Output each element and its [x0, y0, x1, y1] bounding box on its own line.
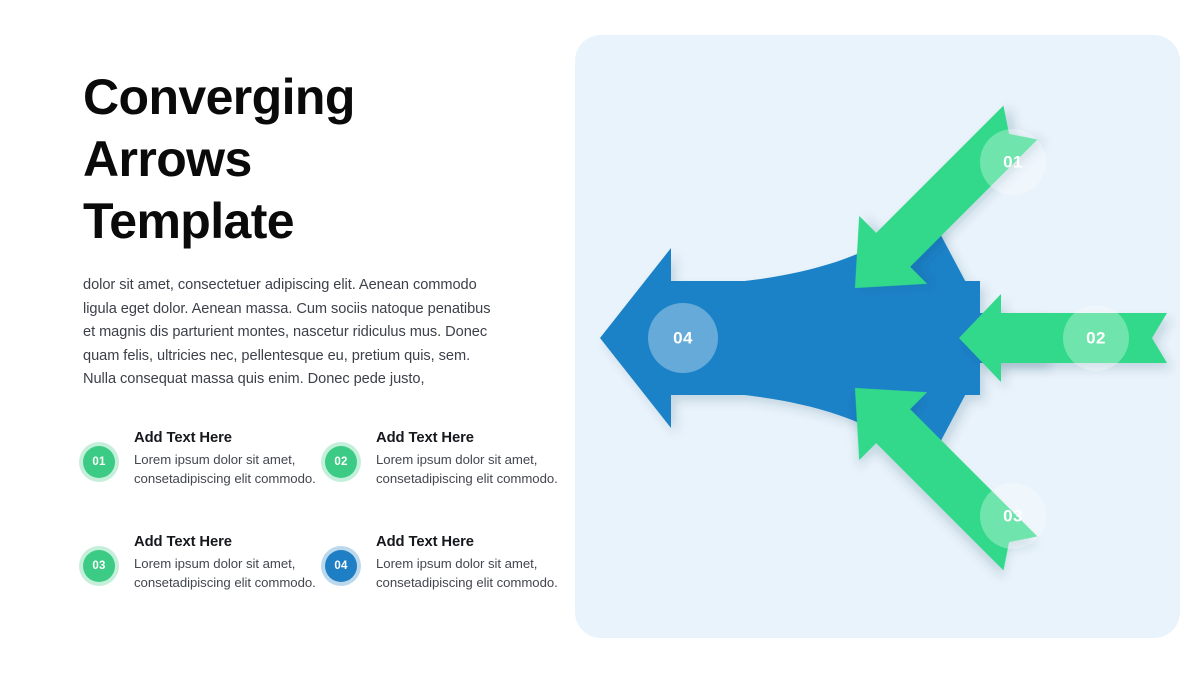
body-paragraph: dolor sit amet, consectetuer adipiscing …: [83, 274, 495, 392]
legend-description-02: Lorem ipsum dolor sit amet, consetadipis…: [376, 451, 558, 488]
legend-description-01: Lorem ipsum dolor sit amet, consetadipis…: [134, 451, 316, 488]
arrow-badge-01-label: 01: [1003, 153, 1023, 172]
legend-badge-01: 01: [83, 446, 115, 478]
arrow-badge-03-label: 03: [1003, 507, 1023, 526]
legend-description-04: Lorem ipsum dolor sit amet, consetadipis…: [376, 555, 558, 592]
legend-heading-04: Add Text Here: [376, 534, 558, 550]
arrow-badge-02-label: 02: [1086, 329, 1106, 348]
left-content-column: Converging Arrows Template dolor sit ame…: [83, 66, 553, 392]
arrow-badge-01: 01: [980, 129, 1046, 195]
legend-item-04[interactable]: 04 Add Text Here Lorem ipsum dolor sit a…: [325, 528, 567, 632]
arrow-badge-03: 03: [980, 483, 1046, 549]
legend-text-04: Add Text Here Lorem ipsum dolor sit amet…: [376, 528, 558, 592]
arrow-badge-04-label: 04: [673, 329, 693, 348]
legend-item-03[interactable]: 03 Add Text Here Lorem ipsum dolor sit a…: [83, 528, 325, 632]
legend-badge-04: 04: [325, 550, 357, 582]
arrow-badge-02: 02: [1063, 305, 1129, 371]
legend-heading-03: Add Text Here: [134, 534, 316, 550]
legend-badge-03: 03: [83, 550, 115, 582]
legend-text-01: Add Text Here Lorem ipsum dolor sit amet…: [134, 424, 316, 488]
legend-text-03: Add Text Here Lorem ipsum dolor sit amet…: [134, 528, 316, 592]
legend-description-03: Lorem ipsum dolor sit amet, consetadipis…: [134, 555, 316, 592]
legend-item-01[interactable]: 01 Add Text Here Lorem ipsum dolor sit a…: [83, 424, 325, 528]
page-title: Converging Arrows Template: [83, 66, 553, 252]
slide-canvas: Converging Arrows Template dolor sit ame…: [0, 0, 1200, 675]
legend-grid: 01 Add Text Here Lorem ipsum dolor sit a…: [83, 424, 573, 632]
legend-item-02[interactable]: 02 Add Text Here Lorem ipsum dolor sit a…: [325, 424, 567, 528]
arrow-badge-04: 04: [648, 303, 718, 373]
converging-arrows-diagram-panel: 04 01 02 03: [575, 35, 1180, 638]
legend-text-02: Add Text Here Lorem ipsum dolor sit amet…: [376, 424, 558, 488]
legend-heading-02: Add Text Here: [376, 430, 558, 446]
legend-heading-01: Add Text Here: [134, 430, 316, 446]
legend-badge-02: 02: [325, 446, 357, 478]
